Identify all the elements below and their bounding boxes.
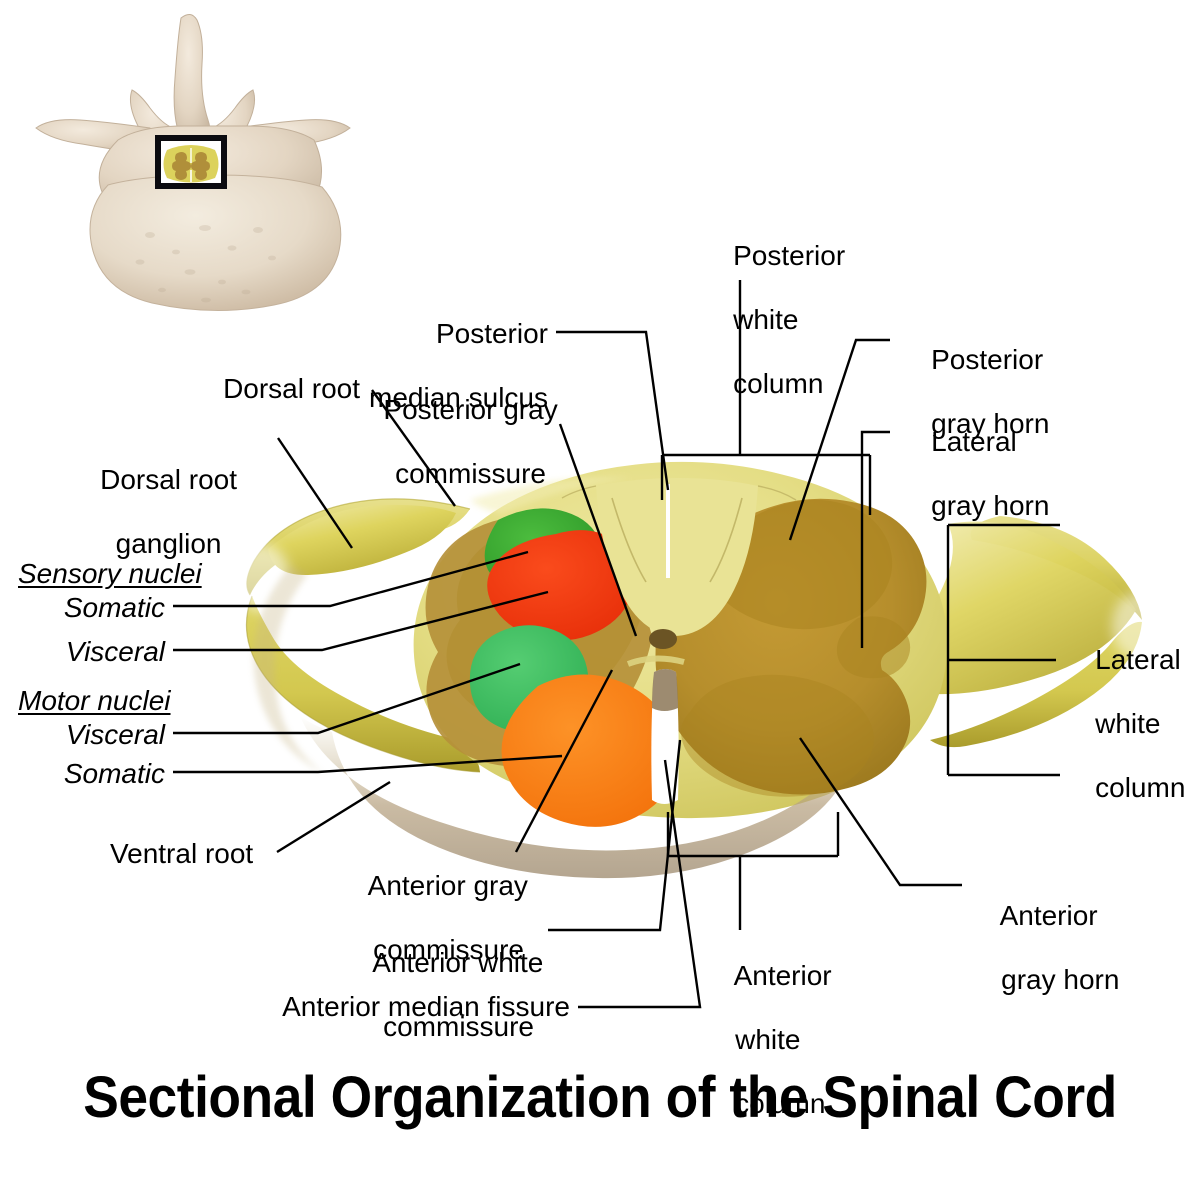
- label-lateral-gray-horn-line1: Lateral: [931, 426, 1017, 457]
- vertebra-inset: [36, 14, 350, 310]
- label-posterior-gray-commissure-line1: Posterior gray: [383, 394, 557, 425]
- label-anterior-white-column-line2: white: [735, 1024, 800, 1055]
- label-anterior-gray-horn-line2: gray horn: [1001, 964, 1119, 995]
- label-sensory-visceral: Visceral: [0, 636, 165, 668]
- label-posterior-white-column: Posterior white column: [702, 208, 922, 432]
- label-posterior-gray-commissure: Posterior gray commissure: [330, 362, 580, 522]
- label-dorsal-root-ganglion-line1: Dorsal root: [100, 464, 237, 495]
- label-lateral-white-column: Lateral white column: [1064, 612, 1200, 836]
- label-lateral-gray-horn-line2: gray horn: [931, 490, 1049, 521]
- label-posterior-white-column-line3: column: [733, 368, 823, 399]
- label-anterior-white-column-line1: Anterior: [734, 960, 832, 991]
- label-anterior-median-fissure: Anterior median fissure: [210, 991, 570, 1023]
- label-anterior-white-commissure-line1: Anterior white: [372, 947, 543, 978]
- label-lateral-white-column-line2: white: [1095, 708, 1160, 739]
- label-lateral-gray-horn: Lateral gray horn: [900, 394, 1140, 554]
- label-posterior-white-column-line2: white: [733, 304, 798, 335]
- label-anterior-gray-horn-line1: Anterior: [1000, 900, 1098, 931]
- label-sensory-nuclei-header: Sensory nuclei: [18, 558, 278, 590]
- label-anterior-gray-horn: Anterior gray horn: [970, 868, 1200, 1028]
- inset-cord: [164, 145, 219, 183]
- label-motor-somatic: Somatic: [0, 758, 165, 790]
- label-sensory-somatic: Somatic: [0, 592, 165, 624]
- label-posterior-gray-commissure-line2: commissure: [395, 458, 546, 489]
- label-anterior-gray-commissure-line1: Anterior gray: [368, 870, 528, 901]
- figure-canvas: Dorsal root Dorsal root ganglion Sensory…: [0, 0, 1200, 1200]
- label-lateral-white-column-line1: Lateral: [1095, 644, 1181, 675]
- figure-title: Sectional Organization of the Spinal Cor…: [48, 1064, 1152, 1131]
- label-posterior-median-sulcus-line1: Posterior: [436, 318, 548, 349]
- label-posterior-gray-horn-line1: Posterior: [931, 344, 1043, 375]
- label-lateral-white-column-line3: column: [1095, 772, 1185, 803]
- central-canal: [649, 629, 677, 649]
- label-posterior-white-column-line1: Posterior: [733, 240, 845, 271]
- label-motor-nuclei-header: Motor nuclei: [18, 685, 278, 717]
- label-dorsal-root-ganglion-line2: ganglion: [116, 528, 222, 559]
- label-motor-visceral: Visceral: [0, 719, 165, 751]
